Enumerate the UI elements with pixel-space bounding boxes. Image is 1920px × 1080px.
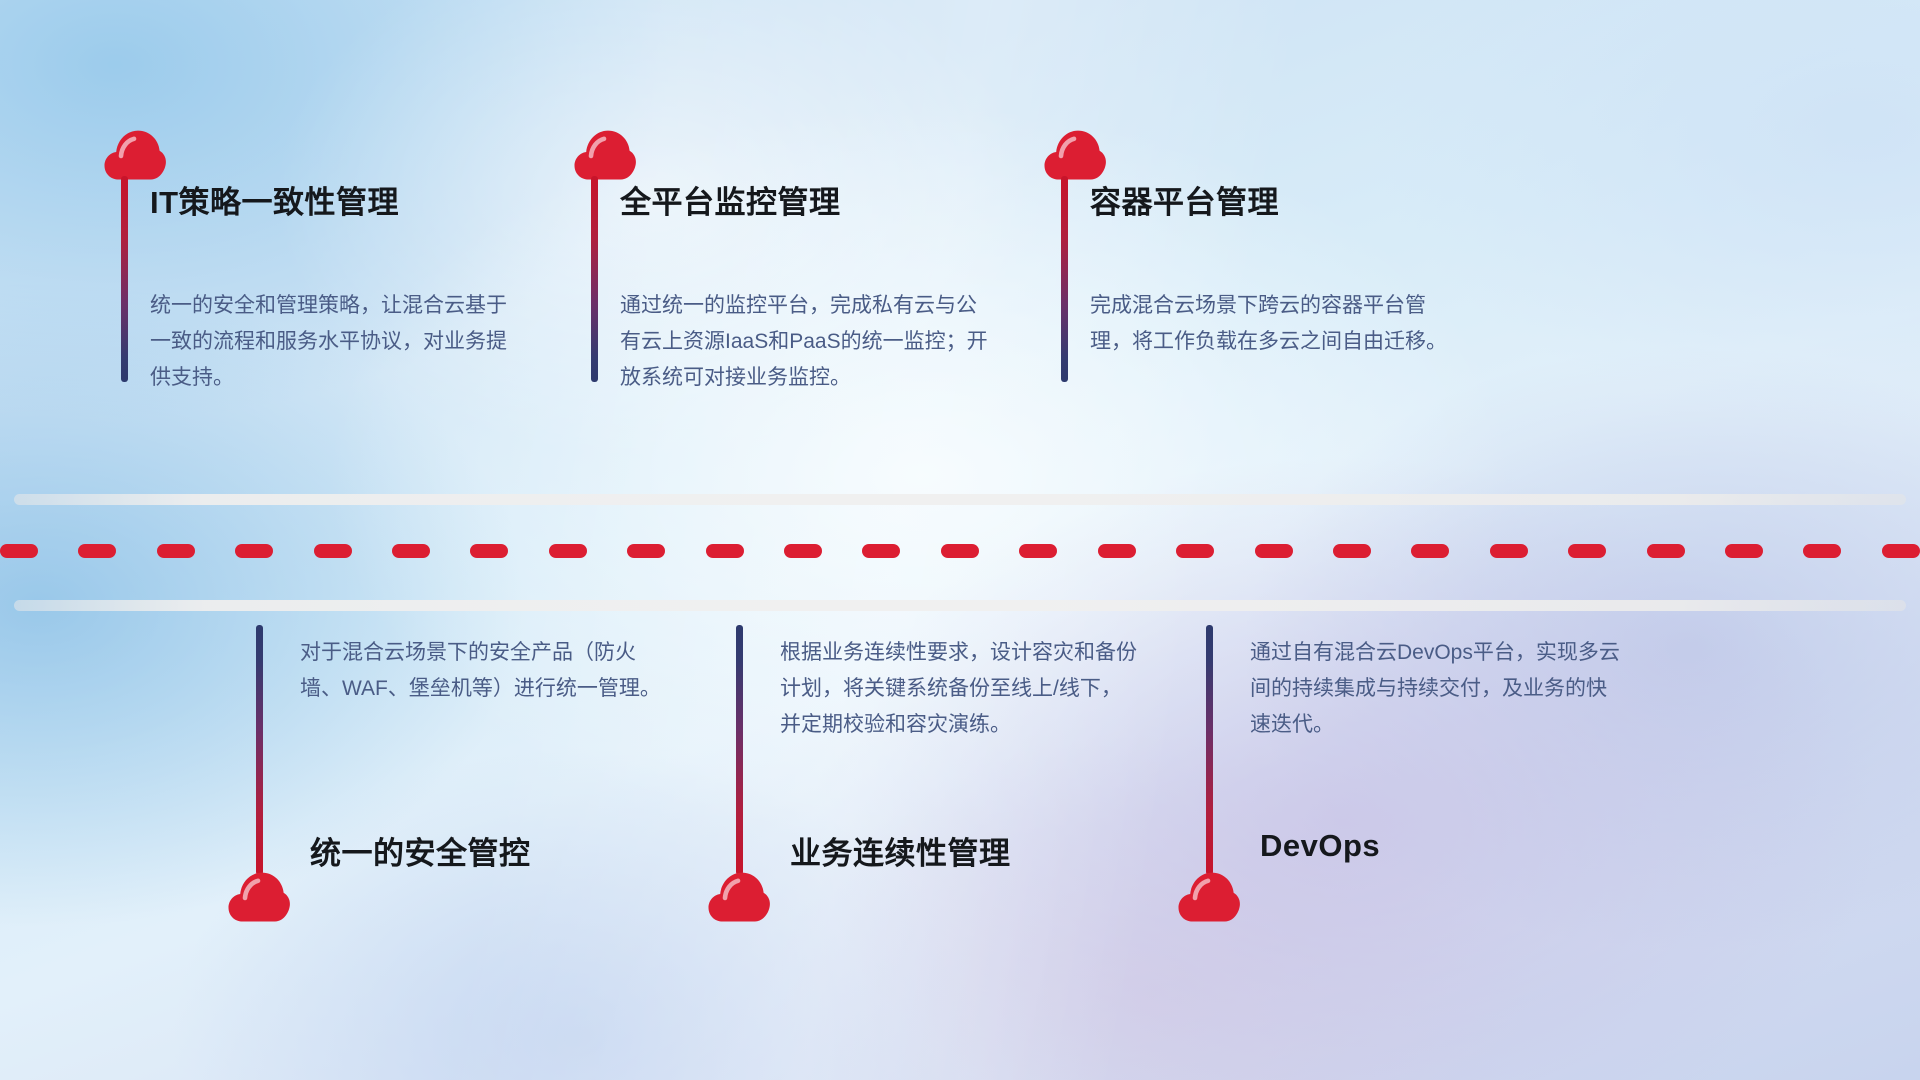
road-dash [1176,544,1214,558]
road-dash [1255,544,1293,558]
stem-line [1061,176,1068,382]
road-dash [1019,544,1057,558]
cloud-icon [1178,872,1240,922]
stem-line [591,176,598,382]
road-dash [1725,544,1763,558]
road-dash [1803,544,1841,558]
cloud-icon [228,872,290,922]
cloud-icon [574,130,636,180]
road-dash [706,544,744,558]
road-dash-strip [0,544,1920,558]
column-heading: 容器平台管理 [1090,177,1279,222]
column-body-text: 完成混合云场景下跨云的容器平台管理，将工作负载在多云之间自由迁移。 [1090,288,1460,360]
column-body-text: 对于混合云场景下的安全产品（防火墙、WAF、堡垒机等）进行统一管理。 [300,635,670,707]
road-edge-bottom [14,600,1906,611]
stem-line [121,176,128,382]
road-dash [235,544,273,558]
road-dash [1647,544,1685,558]
road-dash [1098,544,1136,558]
road-dash [1333,544,1371,558]
column-heading: 全平台监控管理 [620,177,841,222]
road-dash [392,544,430,558]
column-body-text: 统一的安全和管理策略，让混合云基于一致的流程和服务水平协议，对业务提供支持。 [150,288,520,396]
stem-line [1206,625,1213,875]
road-dash [1411,544,1449,558]
column-heading: 统一的安全管控 [310,828,531,873]
column-body-text: 通过自有混合云DevOps平台，实现多云间的持续集成与持续交付，及业务的快速迭代… [1250,635,1620,743]
column-heading: DevOps [1260,828,1380,864]
column-body-text: 根据业务连续性要求，设计容灾和备份计划，将关键系统备份至线上/线下，并定期校验和… [780,635,1140,743]
road-dash [627,544,665,558]
column-heading: 业务连续性管理 [790,828,1011,873]
cloud-icon [1044,130,1106,180]
road-edge-top [14,494,1906,505]
road-dash [862,544,900,558]
road-dash [784,544,822,558]
road-dash [470,544,508,558]
road-dash [1882,544,1920,558]
road-dash [941,544,979,558]
cloud-icon [708,872,770,922]
column-heading: IT策略一致性管理 [150,177,399,222]
road-dash [1568,544,1606,558]
stem-line [736,625,743,875]
column-body-text: 通过统一的监控平台，完成私有云与公有云上资源IaaS和PaaS的统一监控；开放系… [620,288,990,396]
stem-line [256,625,263,875]
infographic-canvas: IT策略一致性管理 统一的安全和管理策略，让混合云基于一致的流程和服务水平协议，… [0,0,1920,1080]
road-dash [1490,544,1528,558]
road-dash [314,544,352,558]
road-dash [0,544,38,558]
road-dash [157,544,195,558]
road-dash [78,544,116,558]
cloud-icon [104,130,166,180]
road-dash [549,544,587,558]
